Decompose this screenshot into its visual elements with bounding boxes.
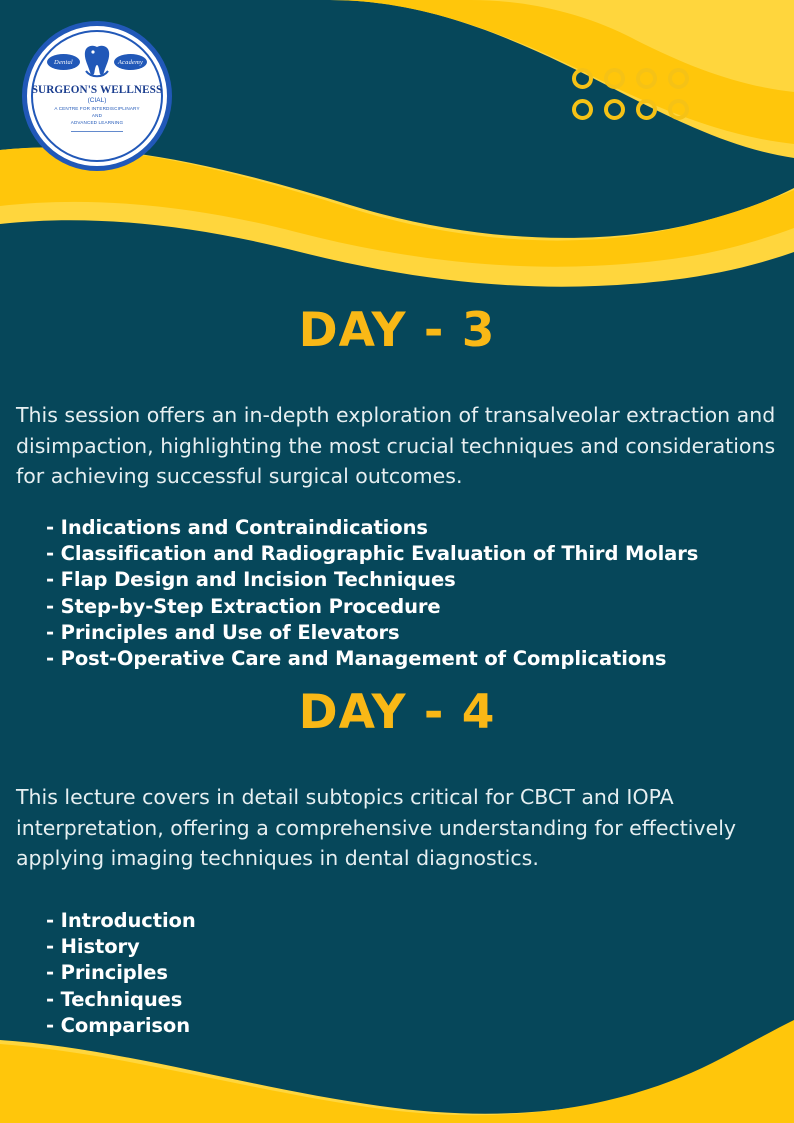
list-item: - Principles	[46, 960, 780, 986]
logo-tagline-line-2: AND	[54, 113, 139, 120]
list-item: - Comparison	[46, 1013, 780, 1039]
day-4-heading: DAY - 4	[0, 685, 794, 740]
dot-ring-icon	[668, 99, 689, 120]
dot-ring-icon	[604, 99, 625, 120]
logo-title: SURGEON'S WELLNESS	[32, 84, 163, 96]
day-4-paragraph: This lecture covers in detail subtopics …	[0, 782, 794, 872]
list-item: - History	[46, 934, 780, 960]
list-item: - Techniques	[46, 987, 780, 1013]
list-item: - Introduction	[46, 908, 780, 934]
dot-ring-icon	[604, 68, 625, 89]
dot-ring-icon	[668, 68, 689, 89]
logo-tagline: A CENTRE FOR INTERDISCIPLINARY AND ADVAN…	[54, 106, 139, 127]
list-item: - Indications and Contraindications	[46, 515, 780, 541]
logo-emblem-row: Dental Academy	[47, 45, 147, 79]
logo-inner-ring: Dental Academy SURGEON'S WELLNESS (CIAL)…	[31, 30, 163, 162]
logo-badge-dental: Dental	[47, 54, 80, 70]
wave-mid-light	[0, 147, 794, 286]
day-3-heading: DAY - 3	[0, 303, 794, 358]
section-day-4: DAY - 4 This lecture covers in detail su…	[0, 654, 794, 1039]
brand-logo: Dental Academy SURGEON'S WELLNESS (CIAL)…	[22, 21, 172, 171]
dot-ring-icon	[636, 99, 657, 120]
day-3-bullet-list: - Indications and Contraindications - Cl…	[0, 515, 794, 672]
logo-tagline-line-1: A CENTRE FOR INTERDISCIPLINARY	[54, 106, 139, 113]
day-4-bullet-list: - Introduction - History - Principles - …	[0, 908, 794, 1039]
section-day-3: DAY - 3 This session offers an in-depth …	[0, 272, 794, 672]
tooth-icon	[82, 45, 112, 79]
list-item: - Classification and Radiographic Evalua…	[46, 541, 780, 567]
dot-ring-icon	[572, 99, 593, 120]
day-3-paragraph: This session offers an in-depth explorat…	[0, 400, 794, 490]
poster-canvas: Dental Academy SURGEON'S WELLNESS (CIAL)…	[0, 0, 794, 1123]
list-item: - Flap Design and Incision Techniques	[46, 567, 780, 593]
dot-grid-decoration	[572, 68, 700, 130]
wave-top-light	[330, 0, 794, 158]
logo-tagline-line-3: ADVANCED LEARNING	[54, 120, 139, 127]
list-item: - Principles and Use of Elevators	[46, 620, 780, 646]
wave-top-deep	[330, 0, 794, 144]
logo-subtitle: (CIAL)	[88, 97, 107, 104]
list-item: - Step-by-Step Extraction Procedure	[46, 594, 780, 620]
dot-ring-icon	[572, 68, 593, 89]
logo-divider	[71, 131, 123, 132]
dot-ring-icon	[636, 68, 657, 89]
logo-badge-academy: Academy	[114, 54, 147, 70]
